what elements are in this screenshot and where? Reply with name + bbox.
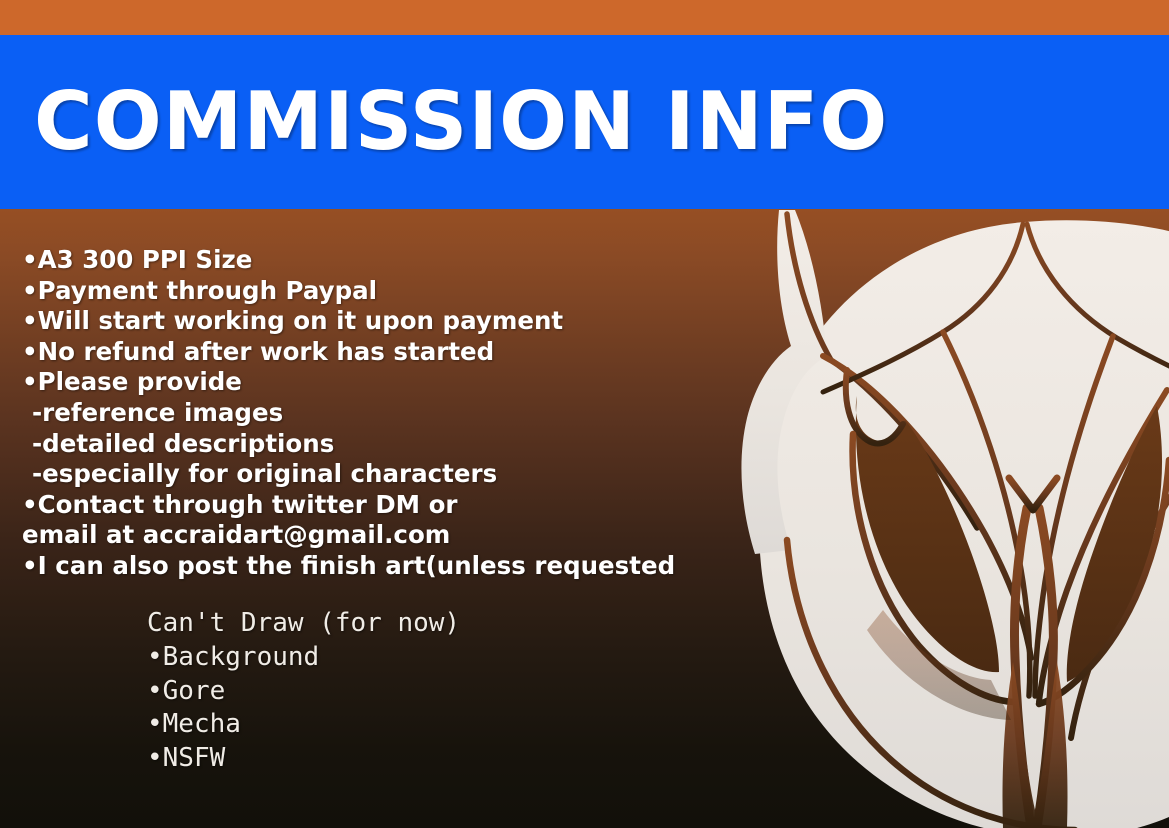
cant-draw-item: •Mecha	[147, 708, 460, 742]
cant-draw-item: •Gore	[147, 675, 460, 709]
owl-mask-logo	[727, 210, 1169, 828]
title-banner: COMMISSION INFO	[0, 35, 1169, 209]
info-line: -especially for original characters	[22, 459, 782, 490]
info-line: •No refund after work has started	[22, 337, 782, 368]
cant-draw-heading: Can't Draw (for now)	[147, 607, 460, 641]
info-line: •Will start working on it upon payment	[22, 306, 782, 337]
cant-draw-item: •Background	[147, 641, 460, 675]
info-line: •I can also post the finish art(unless r…	[22, 551, 782, 582]
page-title: COMMISSION INFO	[34, 82, 888, 162]
info-line: -detailed descriptions	[22, 429, 782, 460]
info-line: •Please provide	[22, 367, 782, 398]
cant-draw-item: •NSFW	[147, 742, 460, 776]
info-line: email at accraidart@gmail.com	[22, 520, 782, 551]
top-orange-stripe	[0, 0, 1169, 35]
cant-draw-list: Can't Draw (for now) •Background •Gore •…	[147, 607, 460, 776]
commission-terms-list: •A3 300 PPI Size •Payment through Paypal…	[22, 245, 782, 582]
commission-info-poster: COMMISSION INFO •A3 300 PPI Size •Paymen…	[0, 0, 1169, 828]
info-line: •A3 300 PPI Size	[22, 245, 782, 276]
info-line: •Contact through twitter DM or	[22, 490, 782, 521]
info-line: •Payment through Paypal	[22, 276, 782, 307]
info-line: -reference images	[22, 398, 782, 429]
